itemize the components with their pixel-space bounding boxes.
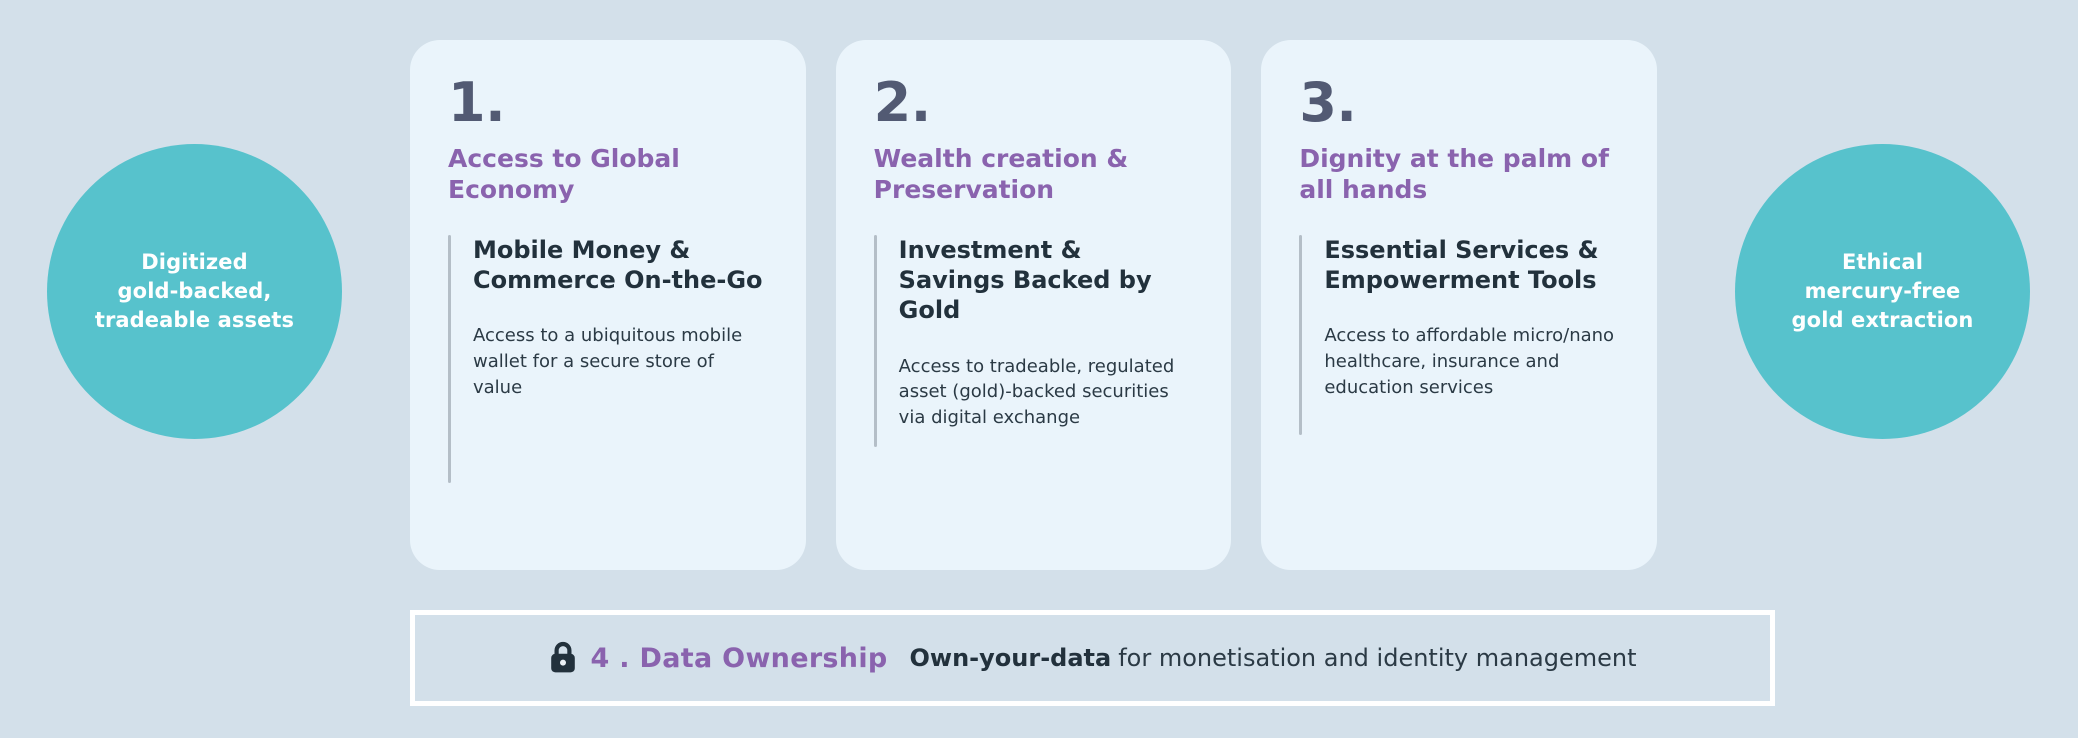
card-2-heading: Wealth creation & Preservation [874, 144, 1194, 205]
card-1-heading: Access to Global Economy [448, 144, 768, 205]
pillar-card-3[interactable]: 3. Dignity at the palm of all hands Esse… [1261, 40, 1657, 570]
pillar-cards-row: 1. Access to Global Economy Mobile Money… [410, 40, 1657, 570]
card-3-heading: Dignity at the palm of all hands [1299, 144, 1619, 205]
card-2-text-block: Investment & Savings Backed by Gold Acce… [899, 235, 1194, 540]
card-1-number: 1. [448, 76, 768, 130]
card-2-accent-bar [874, 235, 877, 447]
left-circle-badge: Digitized gold-backed, tradeable assets [47, 144, 342, 439]
pillar-card-2[interactable]: 2. Wealth creation & Preservation Invest… [836, 40, 1232, 570]
card-2-description: Access to tradeable, regulated asset (go… [899, 354, 1194, 431]
card-3-subtitle: Essential Services & Empowerment Tools [1324, 235, 1619, 295]
right-circle-text: Ethical mercury-free gold extraction [1792, 248, 1974, 335]
card-2-body: Investment & Savings Backed by Gold Acce… [874, 235, 1194, 540]
data-ownership-strong-text: Own-your-data [910, 644, 1112, 672]
data-ownership-bar[interactable]: 4 . Data Ownership Own-your-data for mon… [410, 610, 1775, 706]
data-ownership-rest-text: for monetisation and identity management [1118, 644, 1636, 672]
card-3-description: Access to affordable micro/nano healthca… [1324, 323, 1619, 400]
card-1-subtitle: Mobile Money & Commerce On-the-Go [473, 235, 768, 295]
card-1-text-block: Mobile Money & Commerce On-the-Go Access… [473, 235, 768, 540]
left-circle-text: Digitized gold-backed, tradeable assets [95, 248, 294, 335]
data-ownership-label: 4 . Data Ownership [590, 643, 887, 674]
card-1-accent-bar [448, 235, 451, 483]
infographic-stage: Digitized gold-backed, tradeable assets … [0, 0, 2078, 738]
card-3-accent-bar [1299, 235, 1302, 435]
card-3-text-block: Essential Services & Empowerment Tools A… [1324, 235, 1619, 540]
card-1-description: Access to a ubiquitous mobile wallet for… [473, 323, 768, 400]
right-circle-badge: Ethical mercury-free gold extraction [1735, 144, 2030, 439]
data-ownership-bar-content: 4 . Data Ownership Own-your-data for mon… [548, 641, 1636, 675]
card-3-number: 3. [1299, 76, 1619, 130]
card-1-body: Mobile Money & Commerce On-the-Go Access… [448, 235, 768, 540]
card-2-subtitle: Investment & Savings Backed by Gold [899, 235, 1194, 326]
lock-icon [548, 641, 578, 675]
card-2-number: 2. [874, 76, 1194, 130]
pillar-card-1[interactable]: 1. Access to Global Economy Mobile Money… [410, 40, 806, 570]
card-3-body: Essential Services & Empowerment Tools A… [1299, 235, 1619, 540]
